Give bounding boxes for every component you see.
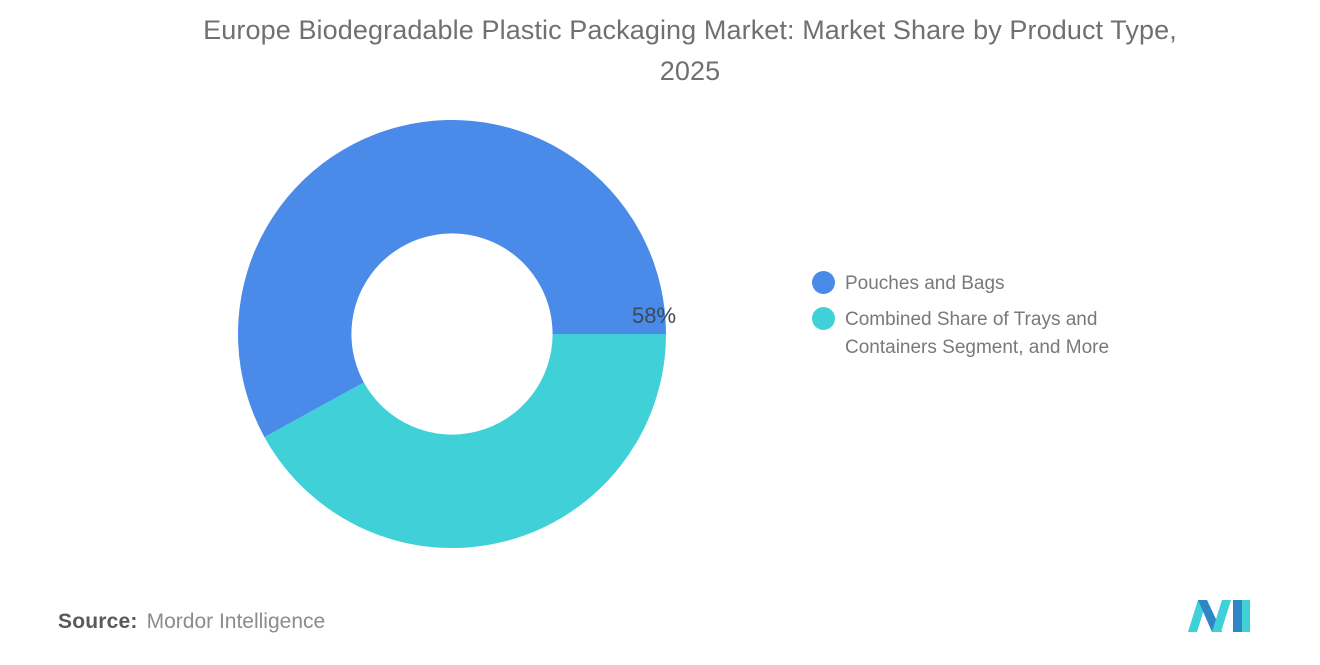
source-label: Source: (58, 610, 138, 634)
logo-shape-m-right (1212, 600, 1231, 632)
legend-item-label: Combined Share of Trays and Containers S… (845, 306, 1175, 362)
chart-title: Europe Biodegradable Plastic Packaging M… (170, 10, 1210, 92)
source-footer: Source: Mordor Intelligence (58, 610, 325, 634)
circle-swatch-icon (812, 271, 835, 294)
mordor-intelligence-logo-icon (1186, 598, 1252, 638)
donut-chart-svg (238, 120, 666, 548)
donut-slices (238, 120, 666, 548)
source-value: Mordor Intelligence (147, 610, 326, 634)
legend-item-pouches-and-bags[interactable]: Pouches and Bags (812, 270, 1232, 298)
legend-item-trays-and-containers[interactable]: Combined Share of Trays and Containers S… (812, 306, 1232, 362)
chart-legend: Pouches and Bags Combined Share of Trays… (812, 270, 1232, 370)
legend-item-label: Pouches and Bags (845, 270, 1005, 298)
donut-slice-label-pouches-and-bags: 58% (619, 303, 689, 329)
donut-chart: 58% (238, 120, 666, 548)
circle-swatch-icon (812, 307, 835, 330)
logo-shape-i-stem (1233, 600, 1242, 632)
logo-svg (1186, 598, 1252, 638)
chart-title-line-1: Europe Biodegradable Plastic Packaging M… (203, 15, 1103, 45)
logo-shape-i-accent (1242, 600, 1250, 632)
